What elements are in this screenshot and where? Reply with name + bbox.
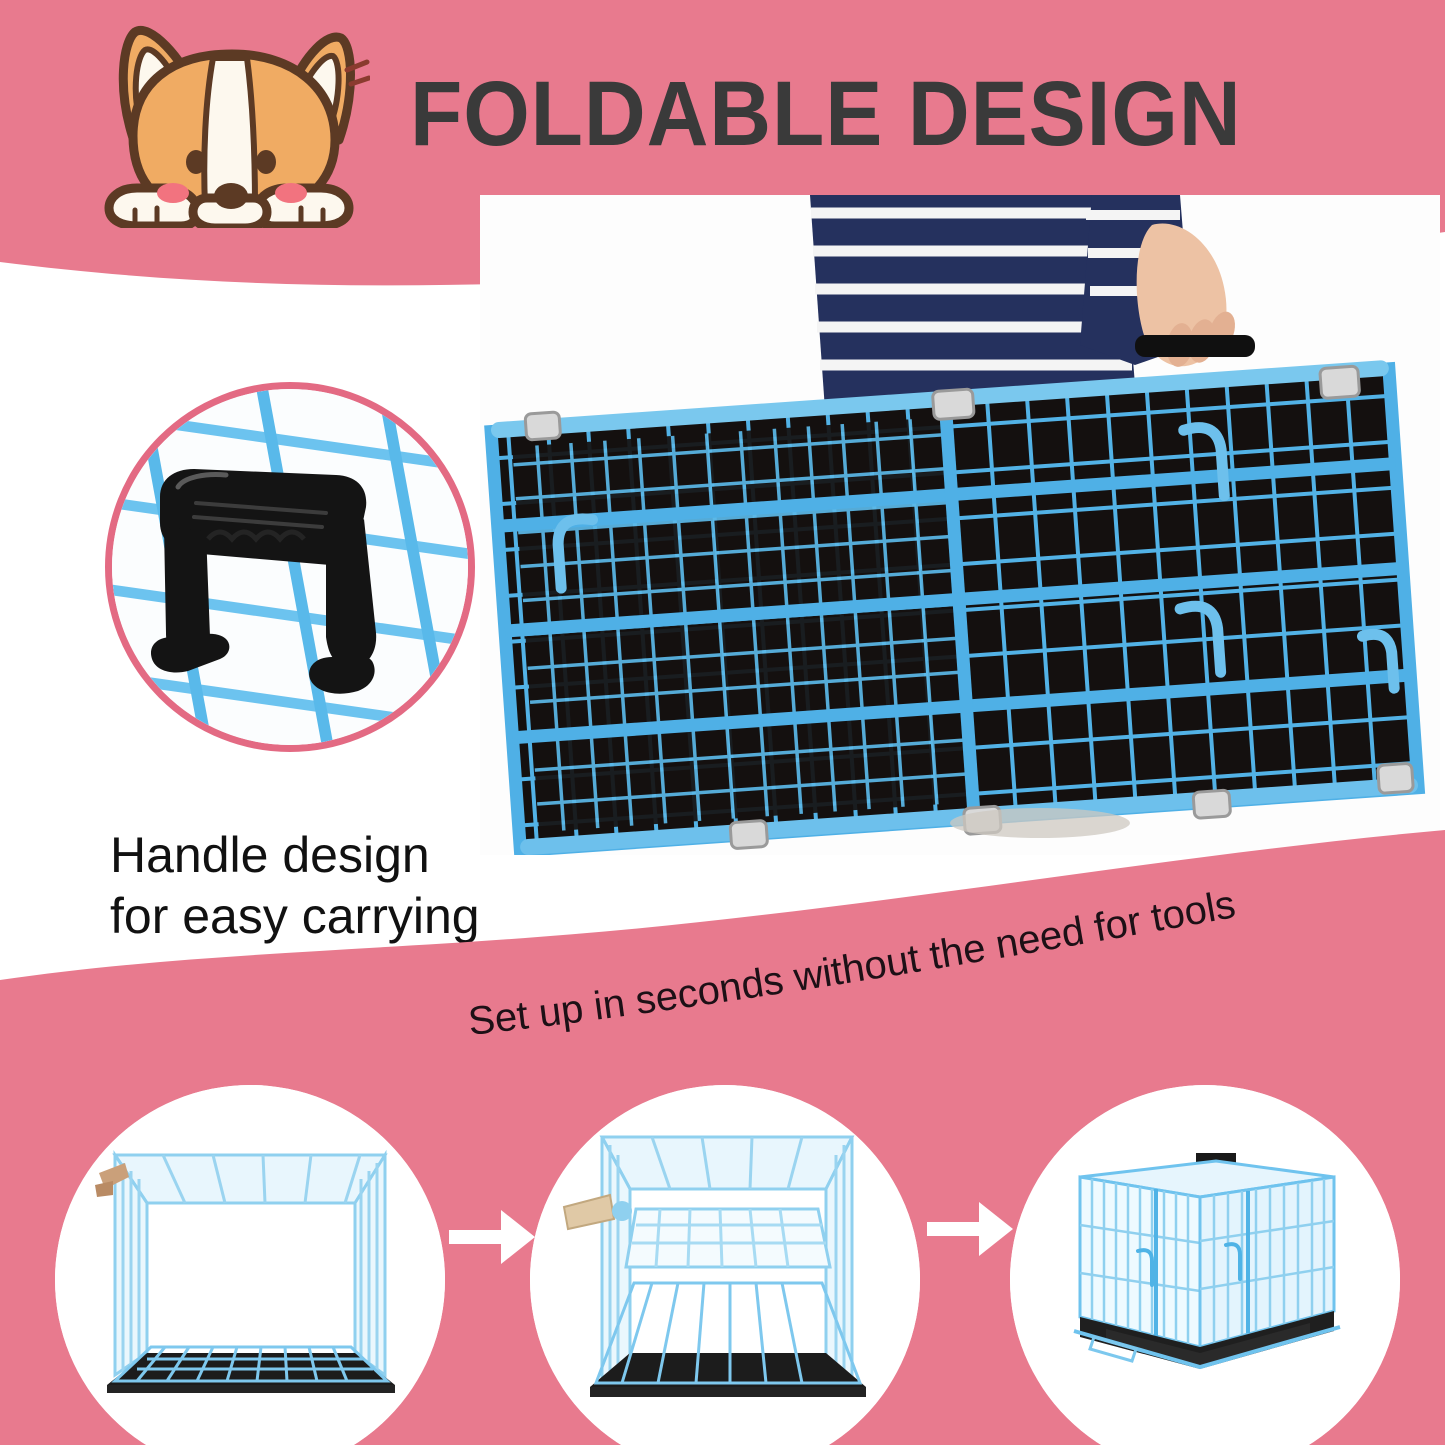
handle-closeup-circle bbox=[105, 382, 475, 752]
setup-arc-text: Set up in seconds without the need for t… bbox=[0, 890, 1445, 1090]
lower-section: Set up in seconds without the need for t… bbox=[0, 830, 1445, 1445]
infographic-root: FOLDABLE DESIGN bbox=[0, 0, 1445, 1445]
page-title: FOLDABLE DESIGN bbox=[410, 62, 1242, 167]
carry-handle-icon bbox=[150, 461, 440, 711]
arrow-1-icon bbox=[447, 1200, 537, 1274]
arrow-2-icon bbox=[925, 1192, 1015, 1266]
corgi-logo-icon bbox=[95, 18, 370, 228]
setup-arc-text-label: Set up in seconds without the need for t… bbox=[466, 890, 1239, 1044]
carry-photo bbox=[480, 195, 1440, 855]
